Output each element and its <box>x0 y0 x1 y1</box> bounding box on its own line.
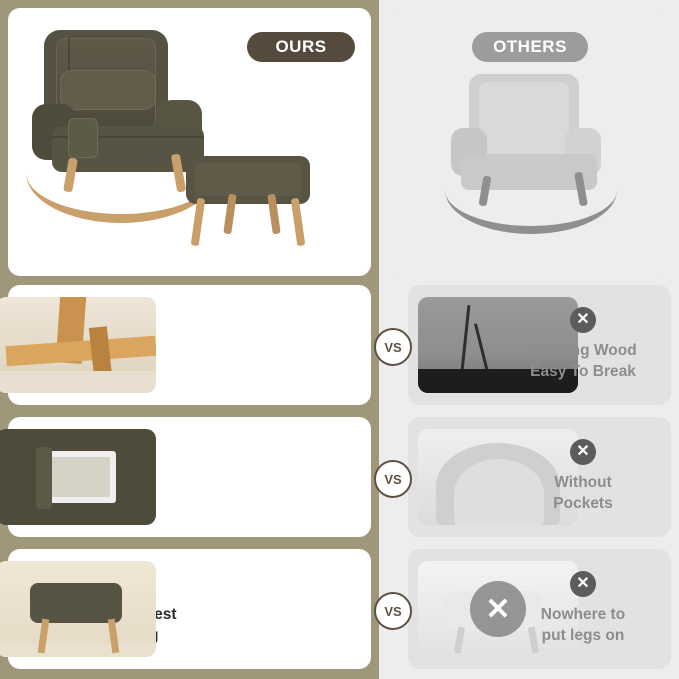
x-circle-icon: ✕ <box>570 307 596 333</box>
feature-3-others-text: ✕ Nowhere to put legs on <box>503 549 663 669</box>
ottoman-cushion-small <box>30 583 122 623</box>
feature-row-3-others: ✕ ✕ Nowhere to put legs on <box>408 549 671 669</box>
feature-row-1-ours: Solid Wood Frame <box>8 285 371 405</box>
feature-row-2-ours: With Side Pocket <box>8 417 371 537</box>
comparison-infographic: OURS OTHERS Solid Wood Frame <box>0 0 679 679</box>
rug-surface <box>0 643 156 657</box>
feature-row-2-others: ✕ Without Pockets <box>408 417 671 537</box>
badge-others: OTHERS <box>472 32 588 62</box>
feature-row-1-others: ✕ Splicing Wood Easy To Break <box>408 285 671 405</box>
feature-2-others-text: ✕ Without Pockets <box>503 417 663 537</box>
feature-3-others-line1: Nowhere to <box>541 605 625 626</box>
chair-lumbar-pillow <box>60 70 156 110</box>
feature-3-ours-image <box>0 561 156 657</box>
vs-badge-2: VS <box>374 460 412 498</box>
feature-3-others-line2: put legs on <box>542 626 625 647</box>
feature-2-others-line2: Pockets <box>553 494 612 515</box>
floor-surface <box>0 371 156 393</box>
feature-2-ours-image <box>0 429 156 525</box>
feature-1-others-line1: Splicing Wood <box>529 341 636 362</box>
vs-badge-1: VS <box>374 328 412 366</box>
feature-1-ours-image <box>0 297 156 393</box>
feature-1-others-text: ✕ Splicing Wood Easy To Break <box>503 285 663 405</box>
ottoman-front-right-leg <box>291 198 306 247</box>
feature-2-others-line1: Without <box>554 473 612 494</box>
chair-side-pocket <box>68 118 98 158</box>
hero-card-ours: OURS <box>8 8 371 276</box>
other-chair-rocker-runner <box>445 174 617 234</box>
wood-crack-line <box>461 305 471 371</box>
wood-crack-line-2 <box>474 323 489 372</box>
x-circle-icon: ✕ <box>570 439 596 465</box>
badge-ours: OURS <box>247 32 355 62</box>
vs-badge-3: VS <box>374 592 412 630</box>
feature-row-3-ours: Additional Footrest More Relaxing <box>8 549 371 669</box>
hero-card-others: OTHERS <box>389 8 671 276</box>
magazines-in-pocket <box>42 451 116 503</box>
x-circle-icon: ✕ <box>570 571 596 597</box>
feature-1-others-line2: Easy To Break <box>530 362 636 383</box>
ottoman-cushion <box>186 156 310 204</box>
pocket-flap <box>36 447 52 509</box>
